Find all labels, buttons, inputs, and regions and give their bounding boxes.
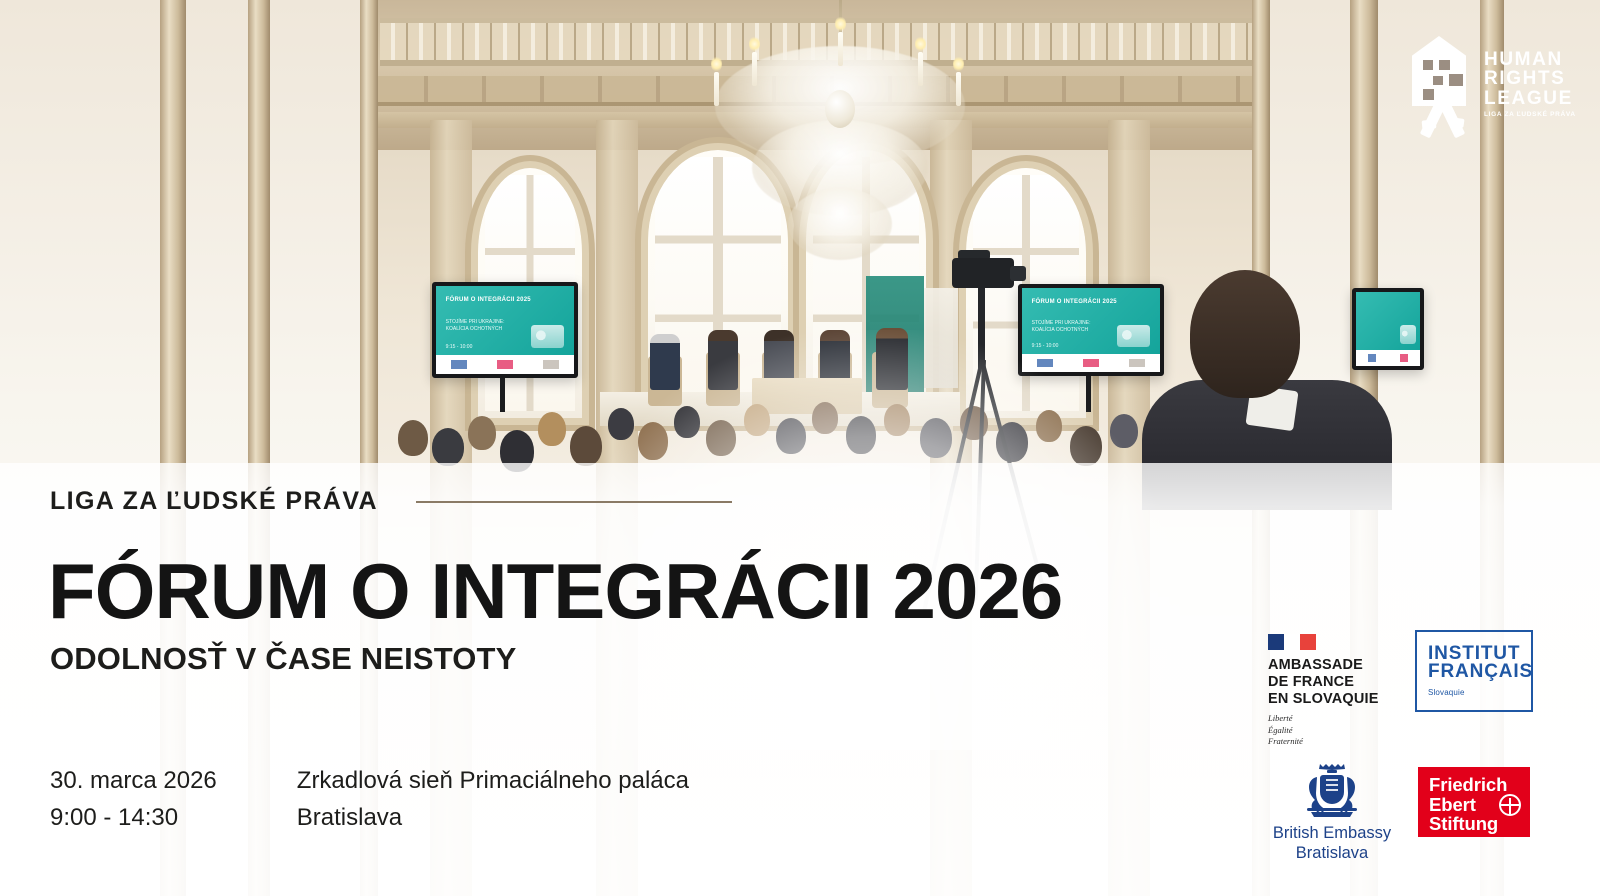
house-shape [1412,36,1466,106]
candle-flame [711,56,722,72]
globe-icon [1499,794,1521,816]
organisation-kicker: LIGA ZA ĽUDSKÉ PRÁVA [50,487,378,516]
human-rights-league-logo: HUMAN RIGHTS LEAGUE LIGA ZA ĽUDSKÉ PRÁVA [1406,32,1584,136]
event-date: 30. marca 2026 [50,762,217,799]
candle-flame [835,16,846,32]
audience-head [706,420,736,456]
audience-head [920,418,952,458]
video-camera [952,258,1014,288]
audience-head [812,402,838,434]
chandelier-candle [838,32,843,66]
screen-logo-mark [531,325,564,348]
audience-head [776,418,806,454]
sponsor-mark [1368,354,1376,361]
event-location: Zrkadlová sieň Primaciálneho paláca Brat… [297,762,689,836]
french-flag-icon [1268,634,1316,650]
screen-logo-mark [1117,325,1150,347]
audience-head [570,426,602,466]
ambassade-de-france-logo: AMBASSADE DE FRANCE EN SLOVAQUIE Liberté… [1268,634,1388,748]
house-with-legs-icon [1406,34,1472,134]
candle-flame [953,56,964,72]
house-window [1433,76,1443,85]
friedrich-ebert-stiftung-logo: Friedrich Ebert Stiftung [1418,767,1530,837]
presentation-screen-left: FÓRUM O INTEGRÁCII 2025 STOJÍME PRI UKRA… [432,282,578,378]
flag-red-band [1300,634,1316,650]
audience-head [638,422,668,460]
logo-line-3: LEAGUE [1484,89,1576,109]
screen-line-1: STOJÍME PRI UKRAJINE: [446,319,505,325]
house-foot [1449,117,1464,128]
sponsor-mark [1037,359,1054,367]
chandelier-tier [788,188,892,260]
logo-tagline: LIGA ZA ĽUDSKÉ PRÁVA [1484,112,1576,119]
sponsor-mark [1400,354,1408,361]
embassy-line-2: DE FRANCE [1268,674,1388,691]
audience-head [846,416,876,454]
audience-head [744,404,770,436]
screen-line-2: KOALÍCIA OCHOTNÝCH [446,326,502,332]
screen-logo-mark [1400,325,1415,344]
british-embassy-logo: British Embassy Bratislava [1262,762,1402,864]
presentation-screen-right: FÓRUM O INTEGRÁCII 2025 STOJÍME PRI UKRA… [1018,284,1164,376]
foreground-attendee [1168,270,1368,470]
page-subtitle: ODOLNOSŤ V ČASE NEISTOTY [50,641,516,677]
tripod-column [978,288,985,368]
logo-line-1: HUMAN [1484,50,1576,70]
house-window [1423,89,1434,100]
screen-title: FÓRUM O INTEGRÁCII 2025 [446,297,566,303]
institut-francais-logo: INSTITUT FRANÇAIS Slovaquie [1415,630,1533,712]
audience-head [538,412,566,446]
audience-head [884,404,910,436]
embassy-line-3: EN SLOVAQUIE [1268,691,1388,708]
chandelier-candle [752,52,757,86]
kicker-row: LIGA ZA ĽUDSKÉ PRÁVA [50,487,1150,516]
flag-white-band [1284,634,1300,650]
embassy-wordmark: AMBASSADE DE FRANCE EN SLOVAQUIE [1268,657,1388,708]
audience-head [1110,414,1138,448]
house-foot [1422,119,1437,129]
attendee-head [1190,270,1300,398]
audience-head [468,416,496,450]
event-meta: 30. marca 2026 9:00 - 14:30 Zrkadlová si… [50,762,689,836]
chandelier-ball [825,90,855,128]
screen-line-2: KOALÍCIA OCHOTNÝCH [1032,327,1088,333]
audience-head [608,408,634,440]
kicker-divider-rule [416,501,732,503]
candle-flame [749,36,760,52]
institut-country: Slovaquie [1428,688,1531,697]
house-window [1439,60,1450,70]
motto-line-3: Fraternité [1268,736,1388,747]
chandelier-candle [714,72,719,106]
event-time: 9:00 - 14:30 [50,799,217,836]
fes-line-1: Friedrich [1429,775,1521,795]
audience-head [398,420,428,456]
sponsor-mark [1083,359,1100,367]
event-datetime: 30. marca 2026 9:00 - 14:30 [50,762,217,836]
sponsor-mark [1129,359,1146,367]
event-city: Bratislava [297,799,689,836]
event-venue: Zrkadlová sieň Primaciálneho paláca [297,762,689,799]
chandelier [690,0,990,284]
audience-head [1036,410,1062,442]
house-window [1423,60,1433,70]
logo-line-2: RIGHTS [1484,69,1576,89]
audience-head [1070,426,1102,466]
motto-line-1: Liberté [1268,713,1388,724]
house-window [1449,74,1463,86]
screen-title: FÓRUM O INTEGRÁCII 2025 [1032,299,1152,305]
embassy-city: Bratislava [1262,844,1402,864]
motto-line-2: Égalité [1268,725,1388,736]
royal-coat-of-arms-icon [1297,762,1367,818]
page-title: FÓRUM O INTEGRÁCII 2026 [48,552,1062,630]
fes-line-3: Stiftung [1429,814,1521,834]
chandelier-candle [956,72,961,106]
chandelier-candle [918,52,923,86]
republic-motto: Liberté Égalité Fraternité [1268,713,1388,747]
institut-line-2: FRANÇAIS [1428,663,1531,681]
embassy-line-1: AMBASSADE [1268,657,1388,674]
screen-line-1: STOJÍME PRI UKRAJINE: [1032,320,1091,326]
audience-head [432,428,464,466]
logo-wordmark: HUMAN RIGHTS LEAGUE LIGA ZA ĽUDSKÉ PRÁVA [1484,50,1576,119]
screen-subtitle: STOJÍME PRI UKRAJINE: KOALÍCIA OCHOTNÝCH [446,319,533,333]
camera-lens [1010,266,1026,281]
candle-flame [915,36,926,52]
screen-time: 9:15 - 10:00 [446,344,473,350]
screen-time: 9:15 - 10:00 [1032,343,1059,349]
event-poster: FÓRUM O INTEGRÁCII 2025 STOJÍME PRI UKRA… [0,0,1600,896]
embassy-name: British Embassy [1262,824,1402,844]
flag-blue-band [1268,634,1284,650]
audience-head [674,406,700,438]
screen-subtitle: STOJÍME PRI UKRAJINE: KOALÍCIA OCHOTNÝCH [1032,320,1119,334]
